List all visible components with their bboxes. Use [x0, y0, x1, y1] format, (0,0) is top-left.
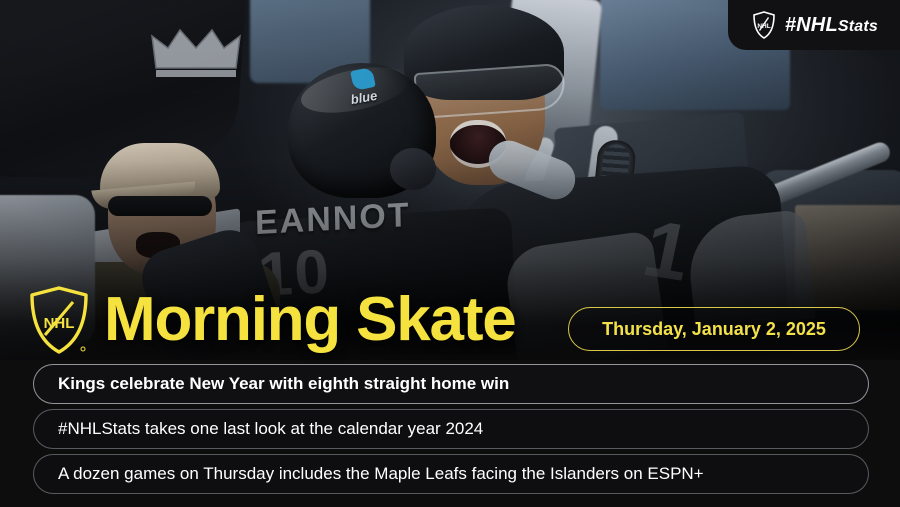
nhlstats-badge: NHL #NHLStats	[728, 0, 900, 50]
headline-list: Kings celebrate New Year with eighth str…	[33, 364, 869, 494]
headline-item-3[interactable]: A dozen games on Thursday includes the M…	[33, 454, 869, 494]
page-title: Morning Skate	[104, 289, 516, 351]
nhlstats-suffix: Stats	[838, 18, 878, 35]
nhlstats-label: #NHLStats	[785, 14, 878, 37]
nhlstats-hash: #NHL	[785, 14, 838, 36]
morning-skate-graphic: 1 EANNOT 10 blue Los Angeles	[0, 0, 900, 507]
svg-text:NHL: NHL	[44, 315, 75, 332]
svg-text:NHL: NHL	[757, 23, 770, 30]
headline-item-1[interactable]: Kings celebrate New Year with eighth str…	[33, 364, 869, 404]
nhl-shield-logo-icon: NHL	[28, 285, 90, 355]
headline-item-2[interactable]: #NHLStats takes one last look at the cal…	[33, 409, 869, 449]
nhl-shield-icon: NHL	[752, 11, 776, 39]
date-badge: Thursday, January 2, 2025	[568, 307, 860, 351]
